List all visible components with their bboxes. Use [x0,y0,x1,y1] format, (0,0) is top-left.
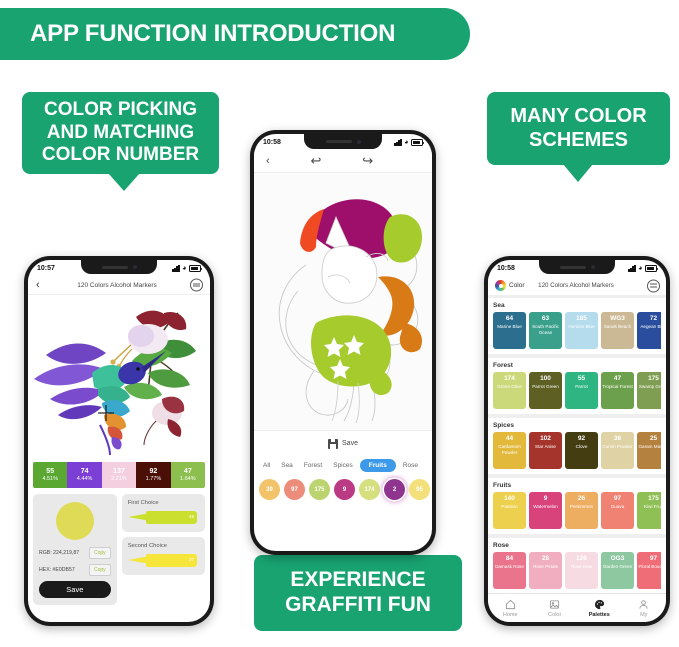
undo-arrow-icon[interactable]: ↩ [311,153,322,169]
color-circle-1[interactable]: 97 [284,479,305,500]
phone2-notch [304,134,382,149]
palette-section-title: Forest [493,362,661,369]
redo-arrow-icon[interactable]: ↪ [362,153,373,169]
palette-chip[interactable]: 175Kiwi Fruit [637,492,661,529]
palette-icon [594,599,605,610]
second-choice-marker: 37 [128,554,199,567]
callout-color-picking: COLOR PICKING AND MATCHING COLOR NUMBER [22,92,219,174]
nav-label: Palettes [589,612,610,618]
phone2-screen: 10:58 ◕ ‹ ↩ ↪ [254,134,432,551]
nav-item-color[interactable]: Color [533,599,578,618]
palette-sections-list[interactable]: Sea64Marine Blue63South Pacific Ocean185… [488,295,666,599]
color-circle-0[interactable]: 39 [259,479,280,500]
palette-chip[interactable]: 174Green Olive [493,372,526,409]
hex-row: HEX: #E0DB57 Copy [39,564,111,576]
second-choice-card[interactable]: Second Choice 37 [122,537,205,575]
app-function-banner: APP FUNCTION INTRODUCTION [0,8,470,60]
chip-name: Watermelon [532,504,559,510]
chip-code: WG3 [610,315,625,322]
chip-code: 174 [504,375,515,382]
color-circle-2[interactable]: 175 [309,479,330,500]
chip-name: South Pacific Ocean [529,324,562,335]
chip-name: Tropical Forest [601,384,633,390]
person-icon [638,599,649,610]
status-time: 10:58 [263,139,281,146]
phone3-screen: 10:58 ◕ Color 120 Colors Alcohol Markers… [488,260,666,622]
swatch-0[interactable]: 55 4.51% [33,462,67,488]
marker-number: 37 [189,557,194,562]
color-circle-3[interactable]: 9 [334,479,355,500]
chip-name: Star Anise [534,444,557,450]
phone1-top-bar: ‹ 120 Colors Alcohol Markers [28,276,210,294]
chip-name: Rose Petals [532,564,559,570]
tab-forest[interactable]: Forest [300,459,326,472]
marker-number: 48 [189,514,194,519]
palette-chip[interactable]: 84Damask Rose [493,552,526,589]
status-time: 10:57 [37,265,55,272]
chip-name: Swamp Green [638,384,661,390]
tab-rose[interactable]: Rose [399,459,422,472]
palette-section-sea: Sea64Marine Blue63South Pacific Ocean185… [488,298,666,354]
palette-chip[interactable]: 126Rose Dew [565,552,598,589]
nav-item-my[interactable]: My [622,599,667,618]
palette-section-fruits: Fruits140Passion9Watermelon26Persimmon97… [488,478,666,534]
chip-code: 25 [650,435,657,442]
palette-chip[interactable]: 25Garam Masala [637,432,661,469]
swatch-number: 74 [81,468,89,476]
palette-section-spices: Spices44Cardamom Powder102Star Anise92Cl… [488,418,666,474]
palette-chip[interactable]: 28Rose Petals [529,552,562,589]
second-choice-label: Second Choice [128,543,199,549]
chip-name: Damask Rose [494,564,525,570]
color-circle-4[interactable]: 174 [359,479,380,500]
nav-label: My [640,612,647,618]
chip-name: Passion [500,504,518,510]
chip-code: 55 [578,375,585,382]
chip-name: Rose Dew [570,564,593,570]
palette-chip-row[interactable]: 44Cardamom Powder102Star Anise92Clove36C… [493,432,661,469]
callout-color-schemes: MANY COLOR SCHEMES [487,92,670,165]
swatch-number: 55 [46,468,54,476]
palette-chip[interactable]: 175Swamp Green [637,372,661,409]
chip-name: Garden Green [602,564,633,570]
palette-chip[interactable]: 55Parrot [565,372,598,409]
palette-chip[interactable]: 97Guava [601,492,634,529]
color-circle-5[interactable]: 2 [384,479,405,500]
palette-section-title: Spices [493,422,661,429]
phone-mockup-graffiti: 10:58 ◕ ‹ ↩ ↪ [250,130,436,555]
back-chevron-icon[interactable]: ‹ [266,155,270,167]
nav-label: Home [503,612,518,618]
chip-code: 64 [506,315,513,322]
menu-circle-icon[interactable] [190,279,203,292]
chip-code: 36 [614,435,621,442]
marker-tip [128,556,150,564]
page-title: 120 Colors Alcohol Markers [488,282,666,289]
status-indicators: ◕ [172,265,201,272]
chip-code: 97 [650,555,657,562]
wifi-icon: ◕ [404,139,408,146]
earpiece-speaker [102,266,128,269]
chip-code: 185 [576,315,587,322]
swatch-percent: 1.77% [146,476,162,483]
swatch-number: 92 [150,468,158,476]
swatch-percent: 4.51% [42,476,58,483]
swatch-1[interactable]: 74 4.44% [67,462,101,488]
palette-section-title: Sea [493,302,661,309]
chip-name: Guava [610,504,626,510]
phone2-top-bar: ‹ ↩ ↪ [254,150,432,172]
palette-chip[interactable]: 102Star Anise [529,432,562,469]
signal-bars-icon [172,265,180,272]
palette-section-forest: Forest174Green Olive100Parrot Green55Par… [488,358,666,414]
chip-name: Green Olive [496,384,523,390]
picked-color-dot [56,502,94,540]
chip-code: 175 [648,375,659,382]
chip-code: 63 [542,315,549,322]
chip-code: 44 [506,435,513,442]
signal-bars-icon [628,265,636,272]
battery-icon [411,139,423,146]
palette-section-title: Rose [493,542,661,549]
chip-name: Clove [575,444,589,450]
swatch-3[interactable]: 92 1.77% [136,462,170,488]
wifi-icon: ◕ [638,265,642,272]
callout-graffiti-fun: EXPERIENCE GRAFFITI FUN [254,555,462,631]
swatch-number: 47 [184,468,192,476]
tab-fruits[interactable]: Fruits [360,459,396,472]
nav-item-home[interactable]: Home [488,599,533,618]
banner-title: APP FUNCTION INTRODUCTION [30,20,395,48]
nav-item-palettes[interactable]: Palettes [577,599,622,618]
palette-chip[interactable]: OG3Garden Green [601,552,634,589]
front-camera [133,265,137,269]
chip-name: Parrot Green [531,384,560,390]
save-floppy-icon [328,439,338,449]
save-button[interactable]: Save [39,581,111,598]
chip-code: 26 [578,495,585,502]
palette-chip[interactable]: 9Watermelon [529,492,562,529]
bottom-navigation[interactable]: Home Color Palettes My [488,593,666,622]
palette-chip[interactable]: WG3Sands Beach [601,312,634,349]
hex-value: HEX: #E0DB57 [39,567,75,573]
battery-icon [645,265,657,272]
phone-mockup-color-picker: 10:57 ◕ ‹ 120 Colors Alcohol Markers [24,256,214,626]
chip-code: 97 [614,495,621,502]
palette-chip[interactable]: 72Aegean Blue [637,312,661,349]
chip-code: 84 [506,555,513,562]
swatch-percent: 2.21% [111,476,127,483]
picked-color-card: RGB: 224,219,87 Copy HEX: #E0DB57 Copy S… [33,494,117,605]
front-camera [357,140,361,144]
chip-code: 47 [614,375,621,382]
tab-all[interactable]: All [259,459,274,472]
tab-sea[interactable]: Sea [277,459,297,472]
unicorn-pony-artwork [254,173,432,430]
chip-code: 92 [578,435,585,442]
phone3-notch [539,260,615,274]
choice-cards: First Choice 48 Second Choice 37 [122,494,205,605]
palette-chip[interactable]: 26Persimmon [565,492,598,529]
chip-name: Aegean Blue [639,324,661,330]
rgb-row: RGB: 224,219,87 Copy [39,547,111,559]
palette-chip[interactable]: 36Cumin Powder [601,432,634,469]
palette-section-rose: Rose84Damask Rose28Rose Petals126Rose De… [488,538,666,594]
palette-chip-row[interactable]: 84Damask Rose28Rose Petals126Rose DewOG3… [493,552,661,589]
palette-chip[interactable]: 92Clove [565,432,598,469]
callout-left-text: COLOR PICKING AND MATCHING COLOR NUMBER [28,99,213,166]
chip-name: Garam Masala [637,444,661,450]
swatch-percent: 1.64% [180,476,196,483]
chip-name: Cardamom Powder [493,444,526,455]
first-choice-marker: 48 [128,511,199,524]
palette-chip-row[interactable]: 64Marine Blue63South Pacific Ocean185Hor… [493,312,661,349]
swatch-number: 137 [113,468,125,476]
chip-code: 102 [540,435,551,442]
palette-chip-row[interactable]: 140Passion9Watermelon26Persimmon97Guava1… [493,492,661,529]
chip-code: 175 [648,495,659,502]
palette-chip[interactable]: 100Parrot Green [529,372,562,409]
palette-category-tabs[interactable]: All Sea Forest Spices Fruits Rose [254,456,432,475]
battery-icon [189,265,201,272]
chip-name: Horizon Blue [567,324,595,330]
copy-rgb-button[interactable]: Copy [89,547,111,559]
status-time: 10:58 [497,265,515,272]
palette-chip[interactable]: 140Passion [493,492,526,529]
palette-chip[interactable]: 64Marine Blue [493,312,526,349]
phone-mockup-palettes: 10:58 ◕ Color 120 Colors Alcohol Markers… [484,256,670,626]
chip-code: 28 [542,555,549,562]
color-percentage-swatches[interactable]: 55 4.51% 74 4.44% 137 2.21% 92 1.77% 47 … [33,462,205,488]
image-icon [549,599,560,610]
swatch-4[interactable]: 47 1.64% [171,462,205,488]
earpiece-speaker [326,140,352,143]
chip-name: Persimmon [569,504,594,510]
chip-name: Sands Beach [603,324,632,330]
phone1-notch [81,260,157,274]
palette-chip[interactable]: 97Floral Bouquet [637,552,661,589]
palette-chip[interactable]: 44Cardamom Powder [493,432,526,469]
palette-section-title: Fruits [493,482,661,489]
swatch-percent: 4.44% [77,476,93,483]
color-circle-6[interactable]: 95 [409,479,430,500]
chip-code: 126 [576,555,587,562]
save-label: Save [342,440,358,447]
chip-name: Kiwi Fruit [643,504,661,510]
artwork-canvas-hummingbird[interactable] [28,294,210,459]
status-indicators: ◕ [628,265,657,272]
artwork-canvas-pony[interactable] [254,172,432,430]
nav-label: Color [548,612,561,618]
chip-name: Cumin Powder [601,444,633,450]
earpiece-speaker [560,266,586,269]
callout-right-text: MANY COLOR SCHEMES [493,105,664,152]
signal-bars-icon [394,139,402,146]
chip-code: OG3 [611,555,625,562]
chip-code: 72 [650,315,657,322]
phone1-screen: 10:57 ◕ ‹ 120 Colors Alcohol Markers [28,260,210,622]
chip-code: 100 [540,375,551,382]
chip-code: 140 [504,495,515,502]
callout-tail [108,173,140,191]
marker-tip [128,513,150,521]
chip-name: Floral Bouquet [638,564,661,570]
palette-chip[interactable]: 63South Pacific Ocean [529,312,562,349]
page-title: 120 Colors Alcohol Markers [28,282,210,289]
copy-hex-button[interactable]: Copy [89,564,111,576]
rgb-value: RGB: 224,219,87 [39,550,79,556]
chip-name: Parrot [574,384,589,390]
phone3-top-bar: Color 120 Colors Alcohol Markers [488,276,666,295]
save-bar[interactable]: Save [254,430,432,456]
front-camera [591,265,595,269]
home-icon [505,599,516,610]
first-choice-card[interactable]: First Choice 48 [122,494,205,532]
chip-code: 9 [544,495,548,502]
palette-chip[interactable]: 47Tropical Forest [601,372,634,409]
wifi-icon: ◕ [182,265,186,272]
palette-chip[interactable]: 185Horizon Blue [565,312,598,349]
tab-spices[interactable]: Spices [329,459,357,472]
phone1-detail-panels: RGB: 224,219,87 Copy HEX: #E0DB57 Copy S… [28,488,210,605]
palette-chip-row[interactable]: 174Green Olive100Parrot Green55Parrot47T… [493,372,661,409]
swatch-2[interactable]: 137 2.21% [102,462,136,488]
menu-circle-icon[interactable] [647,279,660,292]
color-circle-row[interactable]: 39 97 175 9 174 2 95 [254,475,432,508]
status-indicators: ◕ [394,139,423,146]
chip-name: Marine Blue [496,324,523,330]
callout-tail [563,164,593,182]
callout-bottom-text: EXPERIENCE GRAFFITI FUN [260,568,456,618]
first-choice-label: First Choice [128,500,199,506]
hummingbird-artwork [28,295,210,459]
